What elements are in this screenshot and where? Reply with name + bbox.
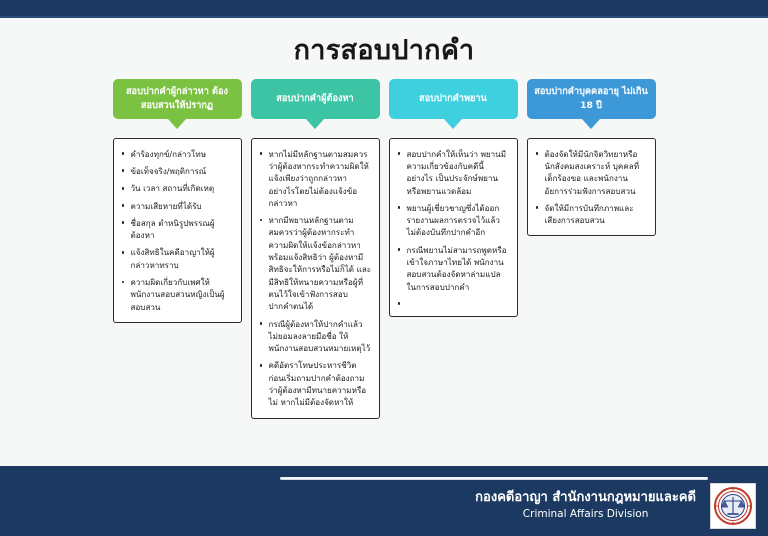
bullet-list-2: หากไม่มีหลักฐานตามสมควรว่าผู้ต้องหากระทำ… bbox=[258, 148, 372, 409]
column-card-3: สอบปากคำให้เห็นว่า พยานมีความเกี่ยวข้องก… bbox=[389, 138, 518, 317]
justice-scales-emblem bbox=[710, 483, 756, 529]
list-item: ความเสียหายที่ได้รับ bbox=[120, 200, 234, 212]
slide-footer: กองคดีอาญา สำนักงานกฎหมายและคดี Criminal… bbox=[0, 466, 768, 536]
bullet-list-1: คำร้องทุกข์/กล่าวโทษ ข้อเท็จจริง/พฤติการ… bbox=[120, 148, 234, 313]
list-item: ความผิดเกี่ยวกับเพศให้พนักงานสอบสวนหญิงเ… bbox=[120, 276, 234, 313]
list-item: จัดให้มีการบันทึกภาพและเสียงการสอบสวน bbox=[534, 202, 648, 227]
header-arrow-icon-1 bbox=[168, 119, 186, 129]
column-header-1[interactable]: สอบปากคำผู้กล่าวหา ต้องสอบสวนให้ปรากฏ bbox=[113, 79, 242, 119]
footer-organization-th: กองคดีอาญา สำนักงานกฎหมายและคดี bbox=[475, 489, 696, 507]
bullet-list-3: สอบปากคำให้เห็นว่า พยานมีความเกี่ยวข้องก… bbox=[396, 148, 510, 307]
list-item bbox=[396, 298, 510, 307]
list-item: คดีอัตราโทษประหารชีวิต ก่อนเริ่มถามปากคำ… bbox=[258, 359, 372, 408]
list-item: ชื่อสกุล ตำหนิรูปพรรณผู้ต้องหา bbox=[120, 217, 234, 242]
header-arrow-icon-2 bbox=[306, 119, 324, 129]
list-item: ต้องจัดให้มีนักจิตวิทยาหรือนักสังคมสงเคร… bbox=[534, 148, 648, 197]
column-header-wrap-3: สอบปากคำพยาน bbox=[389, 79, 518, 129]
list-item: คำร้องทุกข์/กล่าวโทษ bbox=[120, 148, 234, 160]
list-item: กรณีพยานไม่สามารถพูดหรือเข้าใจภาษาไทยได้… bbox=[396, 244, 510, 293]
column-witness: สอบปากคำพยาน สอบปากคำให้เห็นว่า พยานมีคว… bbox=[387, 79, 520, 317]
column-container: สอบปากคำผู้กล่าวหา ต้องสอบสวนให้ปรากฏ คำ… bbox=[0, 79, 768, 419]
column-card-2: หากไม่มีหลักฐานตามสมควรว่าผู้ต้องหากระทำ… bbox=[251, 138, 380, 419]
footer-organization-en: Criminal Affairs Division bbox=[475, 507, 696, 522]
list-item: ข้อเท็จจริง/พฤติการณ์ bbox=[120, 165, 234, 177]
header-arrow-icon-4 bbox=[582, 119, 600, 129]
column-suspect: สอบปากคำผู้ต้องหา หากไม่มีหลักฐานตามสมคว… bbox=[249, 79, 382, 419]
column-card-1: คำร้องทุกข์/กล่าวโทษ ข้อเท็จจริง/พฤติการ… bbox=[113, 138, 242, 323]
list-item: วัน เวลา สถานที่เกิดเหตุ bbox=[120, 182, 234, 194]
list-item: หากไม่มีหลักฐานตามสมควรว่าผู้ต้องหากระทำ… bbox=[258, 148, 372, 209]
column-card-4: ต้องจัดให้มีนักจิตวิทยาหรือนักสังคมสงเคร… bbox=[527, 138, 656, 237]
page-title: การสอบปากคำ bbox=[0, 36, 768, 66]
column-header-2[interactable]: สอบปากคำผู้ต้องหา bbox=[251, 79, 380, 119]
column-header-3[interactable]: สอบปากคำพยาน bbox=[389, 79, 518, 119]
column-header-wrap-1: สอบปากคำผู้กล่าวหา ต้องสอบสวนให้ปรากฏ bbox=[113, 79, 242, 129]
footer-divider bbox=[280, 477, 708, 480]
list-item: สอบปากคำให้เห็นว่า พยานมีความเกี่ยวข้องก… bbox=[396, 148, 510, 197]
column-minor: สอบปากคำบุคคลอายุ ไม่เกิน 18 ปี ต้องจัดใ… bbox=[525, 79, 658, 237]
list-item: แจ้งสิทธิในคดีอาญาให้ผู้กล่าวหาทราบ bbox=[120, 246, 234, 271]
header-arrow-icon-3 bbox=[444, 119, 462, 129]
list-item: พยานผู้เชี่ยวชาญซึ่งได้ออกรายงานผลการตรว… bbox=[396, 202, 510, 239]
list-item: หากมีพยานหลักฐานตามสมควรว่าผู้ต้องหากระท… bbox=[258, 214, 372, 312]
column-header-wrap-4: สอบปากคำบุคคลอายุ ไม่เกิน 18 ปี bbox=[527, 79, 656, 129]
column-header-wrap-2: สอบปากคำผู้ต้องหา bbox=[251, 79, 380, 129]
slide: การสอบปากคำ สอบปากคำผู้กล่าวหา ต้องสอบสว… bbox=[0, 0, 768, 536]
footer-organization: กองคดีอาญา สำนักงานกฎหมายและคดี Criminal… bbox=[475, 489, 696, 522]
slide-body: การสอบปากคำ สอบปากคำผู้กล่าวหา ต้องสอบสว… bbox=[0, 18, 768, 466]
list-item: กรณีผู้ต้องหาให้ปากคำแล้วไม่ยอมลงลายมือช… bbox=[258, 318, 372, 355]
top-accent-bar bbox=[0, 0, 768, 16]
column-header-4[interactable]: สอบปากคำบุคคลอายุ ไม่เกิน 18 ปี bbox=[527, 79, 656, 119]
bullet-list-4: ต้องจัดให้มีนักจิตวิทยาหรือนักสังคมสงเคร… bbox=[534, 148, 648, 227]
column-accuser: สอบปากคำผู้กล่าวหา ต้องสอบสวนให้ปรากฏ คำ… bbox=[111, 79, 244, 323]
